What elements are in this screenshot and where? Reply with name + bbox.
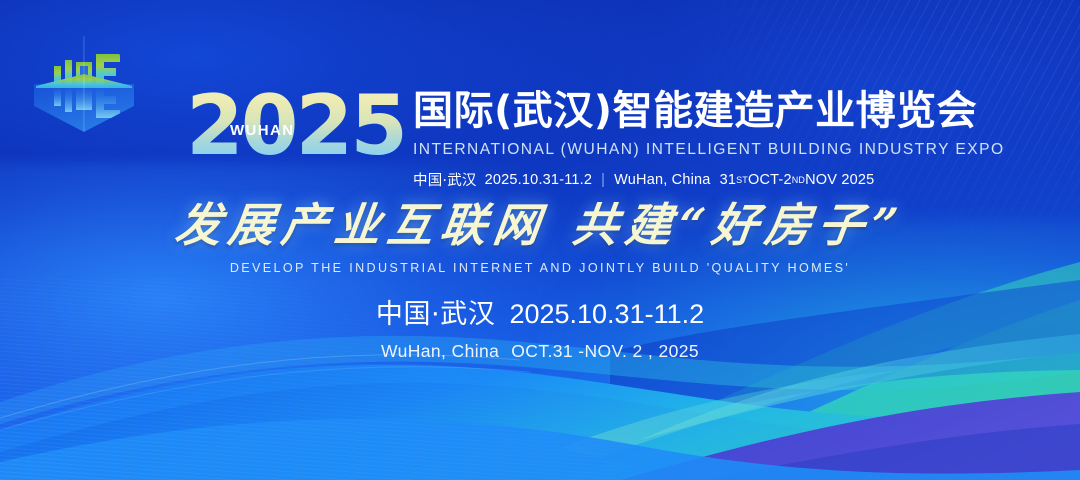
headline-date-line: 中国·武汉 2025.10.31-11.2 | WuHan, China 31S… xyxy=(413,169,1005,190)
slogan-chinese: 发展产业互联网共建“好房子” xyxy=(0,198,1080,252)
title-chinese: 国际(武汉)智能建造产业博览会 xyxy=(413,90,1005,132)
slogan-english: DEVELOP THE INDUSTRIAL INTERNET AND JOIN… xyxy=(0,261,1080,275)
headline-date-en-place: WuHan, China xyxy=(614,172,710,188)
year-sub-label: WUHAN xyxy=(230,123,295,138)
title-column: 国际(武汉)智能建造产业博览会 INTERNATIONAL (WUHAN) IN… xyxy=(413,84,1005,190)
year-text: 2025 xyxy=(186,84,405,167)
date-english-range: OCT.31 -NOV. 2 , 2025 xyxy=(511,341,699,361)
slogan-chinese-part1: 发展产业互联网 xyxy=(172,198,550,252)
date-chinese-range: 2025.10.31-11.2 xyxy=(509,299,704,329)
date-chinese-place: 中国·武汉 xyxy=(376,299,496,330)
date-english-place: WuHan, China xyxy=(381,341,499,361)
headline-date-en-suffix: NOV 2025 xyxy=(805,172,874,188)
title-english: INTERNATIONAL (WUHAN) INTELLIGENT BUILDI… xyxy=(413,141,1005,159)
headline-date-separator: | xyxy=(601,172,605,188)
date-english-line: WuHan, ChinaOCT.31 -NOV. 2 , 2025 xyxy=(0,341,1080,362)
headline-date-sup-st: ST xyxy=(736,175,748,185)
expo-banner: 2025 WUHAN 国际(武汉)智能建造产业博览会 INTERNATIONAL… xyxy=(0,0,1080,480)
slogan-chinese-part2: 共建“好房子” xyxy=(569,198,908,252)
headline-date-en-prefix: 31 xyxy=(720,172,737,188)
headline-date-cn-place: 中国·武汉 xyxy=(413,169,477,190)
headline-date-cn-range: 2025.10.31-11.2 xyxy=(485,172,593,188)
headline-date-sup-nd: ND xyxy=(792,175,805,185)
headline-block: 2025 WUHAN 国际(武汉)智能建造产业博览会 INTERNATIONAL… xyxy=(186,84,1005,190)
headline-date-en-mid: OCT-2 xyxy=(748,172,792,188)
year-wrap: 2025 WUHAN xyxy=(186,84,405,167)
date-chinese-line: 中国·武汉2025.10.31-11.2 xyxy=(0,292,1080,331)
expo-logo[interactable] xyxy=(28,32,140,136)
slogan-block: 发展产业互联网共建“好房子” DEVELOP THE INDUSTRIAL IN… xyxy=(0,198,1080,275)
date-block: 中国·武汉2025.10.31-11.2 WuHan, ChinaOCT.31 … xyxy=(0,292,1080,362)
